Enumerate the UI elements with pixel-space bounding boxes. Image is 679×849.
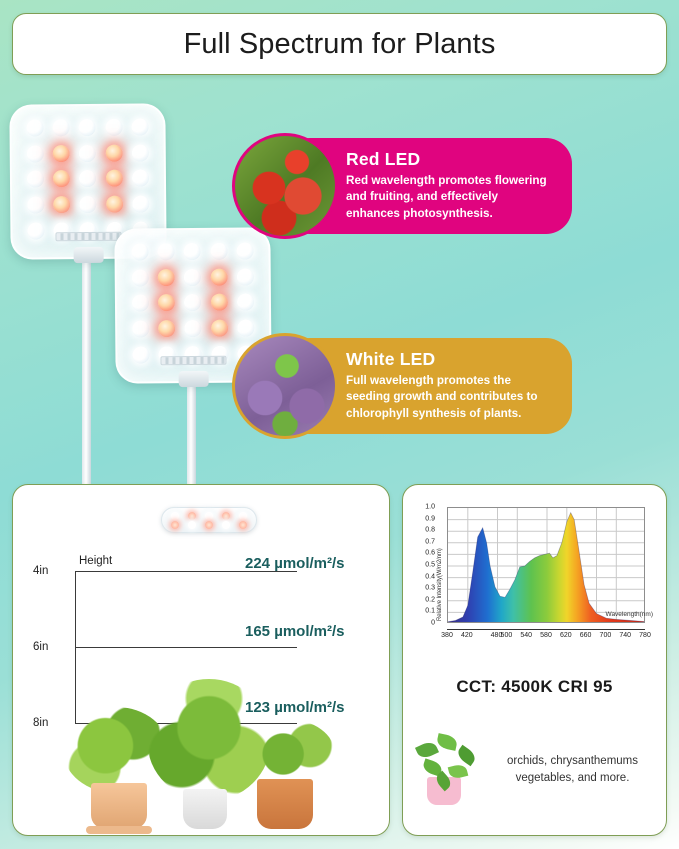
spectrum-y-tick: 0.2 <box>425 596 435 603</box>
spectrum-x-tick: 420 <box>461 632 473 639</box>
spectrum-x-ticks: 380420480500540580620660700740780 <box>447 632 645 646</box>
spectrum-y-tick: 0.9 <box>425 515 435 522</box>
page-title-card: Full Spectrum for Plants <box>12 13 667 75</box>
plant-pot <box>257 779 313 829</box>
ppfd-height-panel: Height 4in 6in 8in 224 µmol/m²/s 165 µmo… <box>12 484 390 836</box>
height-axis-label: Height <box>79 555 112 567</box>
spectrum-y-tick: 1.0 <box>425 504 435 511</box>
panel-mount-neck <box>179 371 209 387</box>
spectrum-plot-area <box>447 507 645 623</box>
spectrum-x-tick: 780 <box>639 632 651 639</box>
tick-6in: 6in <box>33 641 48 653</box>
spectrum-x-axis <box>447 629 645 630</box>
white-led-description: Full wavelength promotes the seeding gro… <box>346 373 554 421</box>
feature-white-led: White LED Full wavelength promotes the s… <box>232 333 572 439</box>
panel-mount-neck <box>74 247 104 263</box>
usecase-row: orchids, chrysanthemums vegetables, and … <box>415 733 656 807</box>
spectrum-x-tick: 700 <box>600 632 612 639</box>
potted-plants-photo <box>43 679 373 829</box>
usecase-text: orchids, chrysanthemums vegetables, and … <box>489 753 656 786</box>
feature-red-led: Red LED Red wavelength promotes flowerin… <box>232 133 572 239</box>
led-strip-module <box>161 507 257 533</box>
spectrum-y-ticks: 00.10.20.30.40.50.60.70.80.91.0 <box>415 507 435 623</box>
red-led-title: Red LED <box>346 149 554 170</box>
spectrum-x-tick: 740 <box>619 632 631 639</box>
cct-cri-label: CCT: 4500K CRI 95 <box>403 677 666 697</box>
red-led-description: Red wavelength promotes flowering and fr… <box>346 173 554 221</box>
led-driver-chip <box>55 232 121 242</box>
spectrum-y-tick: 0.6 <box>425 550 435 557</box>
ppfd-value-4in: 224 µmol/m²/s <box>245 555 345 572</box>
spectrum-y-tick: 0.1 <box>425 608 435 615</box>
spectrum-x-tick: 580 <box>540 632 552 639</box>
ppfd-value-6in: 165 µmol/m²/s <box>245 623 345 640</box>
spectrum-y-tick: 0 <box>431 620 435 627</box>
potted-plant-icon <box>415 733 481 807</box>
spectrum-y-tick: 0.7 <box>425 538 435 545</box>
white-led-title: White LED <box>346 349 554 370</box>
seedling-photo <box>232 333 338 439</box>
spectrum-panel: Relative Intensity(W/m2/nm) 00.10.20.30.… <box>402 484 667 836</box>
tomato-photo <box>232 133 338 239</box>
plant-pot <box>91 783 147 829</box>
tick-4in: 4in <box>33 565 48 577</box>
spectrum-y-tick: 0.5 <box>425 562 435 569</box>
spectrum-x-axis-label: Wavelength(nm) <box>606 611 653 618</box>
spectrum-x-tick: 380 <box>441 632 453 639</box>
spectrum-y-tick: 0.8 <box>425 527 435 534</box>
spectrum-x-tick: 500 <box>501 632 513 639</box>
spectrum-curve <box>448 508 645 623</box>
spectrum-x-tick: 540 <box>520 632 532 639</box>
spectrum-x-tick: 620 <box>560 632 572 639</box>
ppfd-line-6in <box>75 647 297 648</box>
led-bulb-grid <box>21 114 154 243</box>
spectrum-y-tick: 0.3 <box>425 585 435 592</box>
led-driver-chip <box>160 356 226 366</box>
plant-pot <box>183 789 227 829</box>
page-title: Full Spectrum for Plants <box>184 28 496 61</box>
spectrum-chart: Relative Intensity(W/m2/nm) 00.10.20.30.… <box>415 503 655 655</box>
spectrum-y-tick: 0.4 <box>425 573 435 580</box>
spectrum-y-axis-label: Relative Intensity(W/m2/nm) <box>437 548 443 621</box>
spectrum-x-tick: 660 <box>580 632 592 639</box>
